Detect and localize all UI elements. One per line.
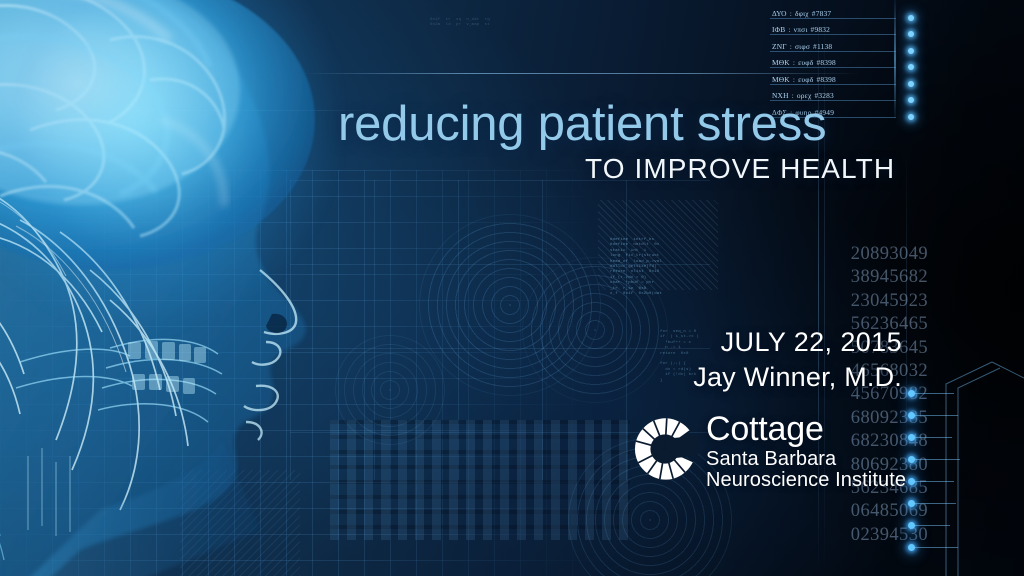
readout-value: δφιχ — [795, 9, 809, 18]
readout-key: ΜΘΚ — [772, 58, 790, 67]
event-date: JULY 22, 2015 — [721, 329, 902, 356]
readout-row: ΔΥΟ:δφιχ# 7837 — [770, 2, 896, 19]
readout-hash: # — [811, 25, 815, 34]
readout-value: ευφδ — [798, 58, 813, 67]
grid-pattern-fine — [0, 170, 640, 576]
readout-row: ΙΦΒ:νπσι# 9832 — [770, 19, 896, 36]
readout-key: ΙΦΒ — [772, 25, 785, 34]
readout-hash: # — [812, 9, 816, 18]
code-text-block-4: sys_rd 0x01 buf_w 0x0f — [40, 120, 160, 131]
readout-number: 1138 — [817, 42, 832, 51]
readout-row: ΜΘΚ:ευφδ# 8398 — [770, 68, 896, 85]
title-slide: #define intrf_bs #define netdlt 0x stati… — [0, 0, 1024, 576]
logo-brand-name: Cottage — [706, 410, 906, 448]
page-title: reducing patient stress — [338, 100, 826, 149]
readout-node-icon — [908, 48, 914, 54]
code-text-block-1: #define intrf_bs #define netdlt 0x stati… — [610, 238, 760, 297]
readout-node-icon — [908, 81, 914, 87]
readout-number: 7837 — [816, 9, 832, 18]
concentric-rings-icon-4 — [330, 330, 450, 450]
diagonal-hatch-pattern-2 — [180, 470, 300, 576]
readout-hash: # — [816, 75, 820, 84]
segmented-c-icon — [632, 415, 698, 483]
readout-separator: : — [793, 58, 795, 67]
scan-line-2 — [0, 110, 380, 111]
readout-row: ΖΝΓ:σιφσ# 1138 — [770, 35, 896, 52]
readout-number: 9832 — [814, 25, 830, 34]
readout-value: σιφσ — [795, 42, 810, 51]
segmented-c-svg — [632, 415, 698, 483]
readout-node-icon — [908, 97, 914, 103]
readout-node-icon — [908, 31, 914, 37]
logo-line-1: Santa Barbara — [706, 449, 906, 470]
head-brain-svg — [0, 0, 430, 576]
readout-number: 8398 — [820, 58, 836, 67]
readout-separator: : — [790, 9, 792, 18]
concentric-rings-icon — [415, 210, 605, 400]
readout-node-icon — [908, 64, 914, 70]
readout-separator: : — [793, 75, 795, 84]
brain-glow — [0, 0, 340, 330]
logo-line-2: Neuroscience Institute — [706, 470, 906, 491]
readout-key: ΜΘΚ — [772, 75, 790, 84]
number-row: 23045923 — [851, 290, 928, 313]
number-row: 38945682 — [851, 266, 928, 289]
readout-row: ΜΘΚ:ευφδ# 8398 — [770, 52, 896, 69]
page-subtitle: TO IMPROVE HEALTH — [585, 155, 895, 183]
readout-number: 8398 — [820, 75, 836, 84]
readout-hash: # — [816, 58, 820, 67]
code-text-block-3: 0x1f tr sq n_dat rq 0x2a ld pr v_map st — [430, 18, 570, 29]
readout-value: ευφδ — [798, 75, 813, 84]
halftone-dot-pattern — [330, 420, 630, 540]
xray-head-brain-illustration — [0, 0, 430, 576]
readout-key: ΔΥΟ — [772, 9, 787, 18]
readout-separator: : — [790, 42, 792, 51]
readout-hash: # — [813, 42, 817, 51]
logo-text-group: Cottage Santa Barbara Neuroscience Insti… — [706, 410, 906, 491]
readout-separator: : — [788, 25, 790, 34]
cottage-logo: Cottage Santa Barbara Neuroscience Insti… — [632, 412, 907, 494]
readout-key: ΖΝΓ — [772, 42, 787, 51]
readout-value: νπσι — [794, 25, 808, 34]
readout-node-icon — [908, 15, 914, 21]
presenter-name: Jay Winner, M.D. — [693, 364, 902, 391]
number-row: 20893049 — [851, 243, 928, 266]
readout-node-icon — [908, 114, 914, 120]
